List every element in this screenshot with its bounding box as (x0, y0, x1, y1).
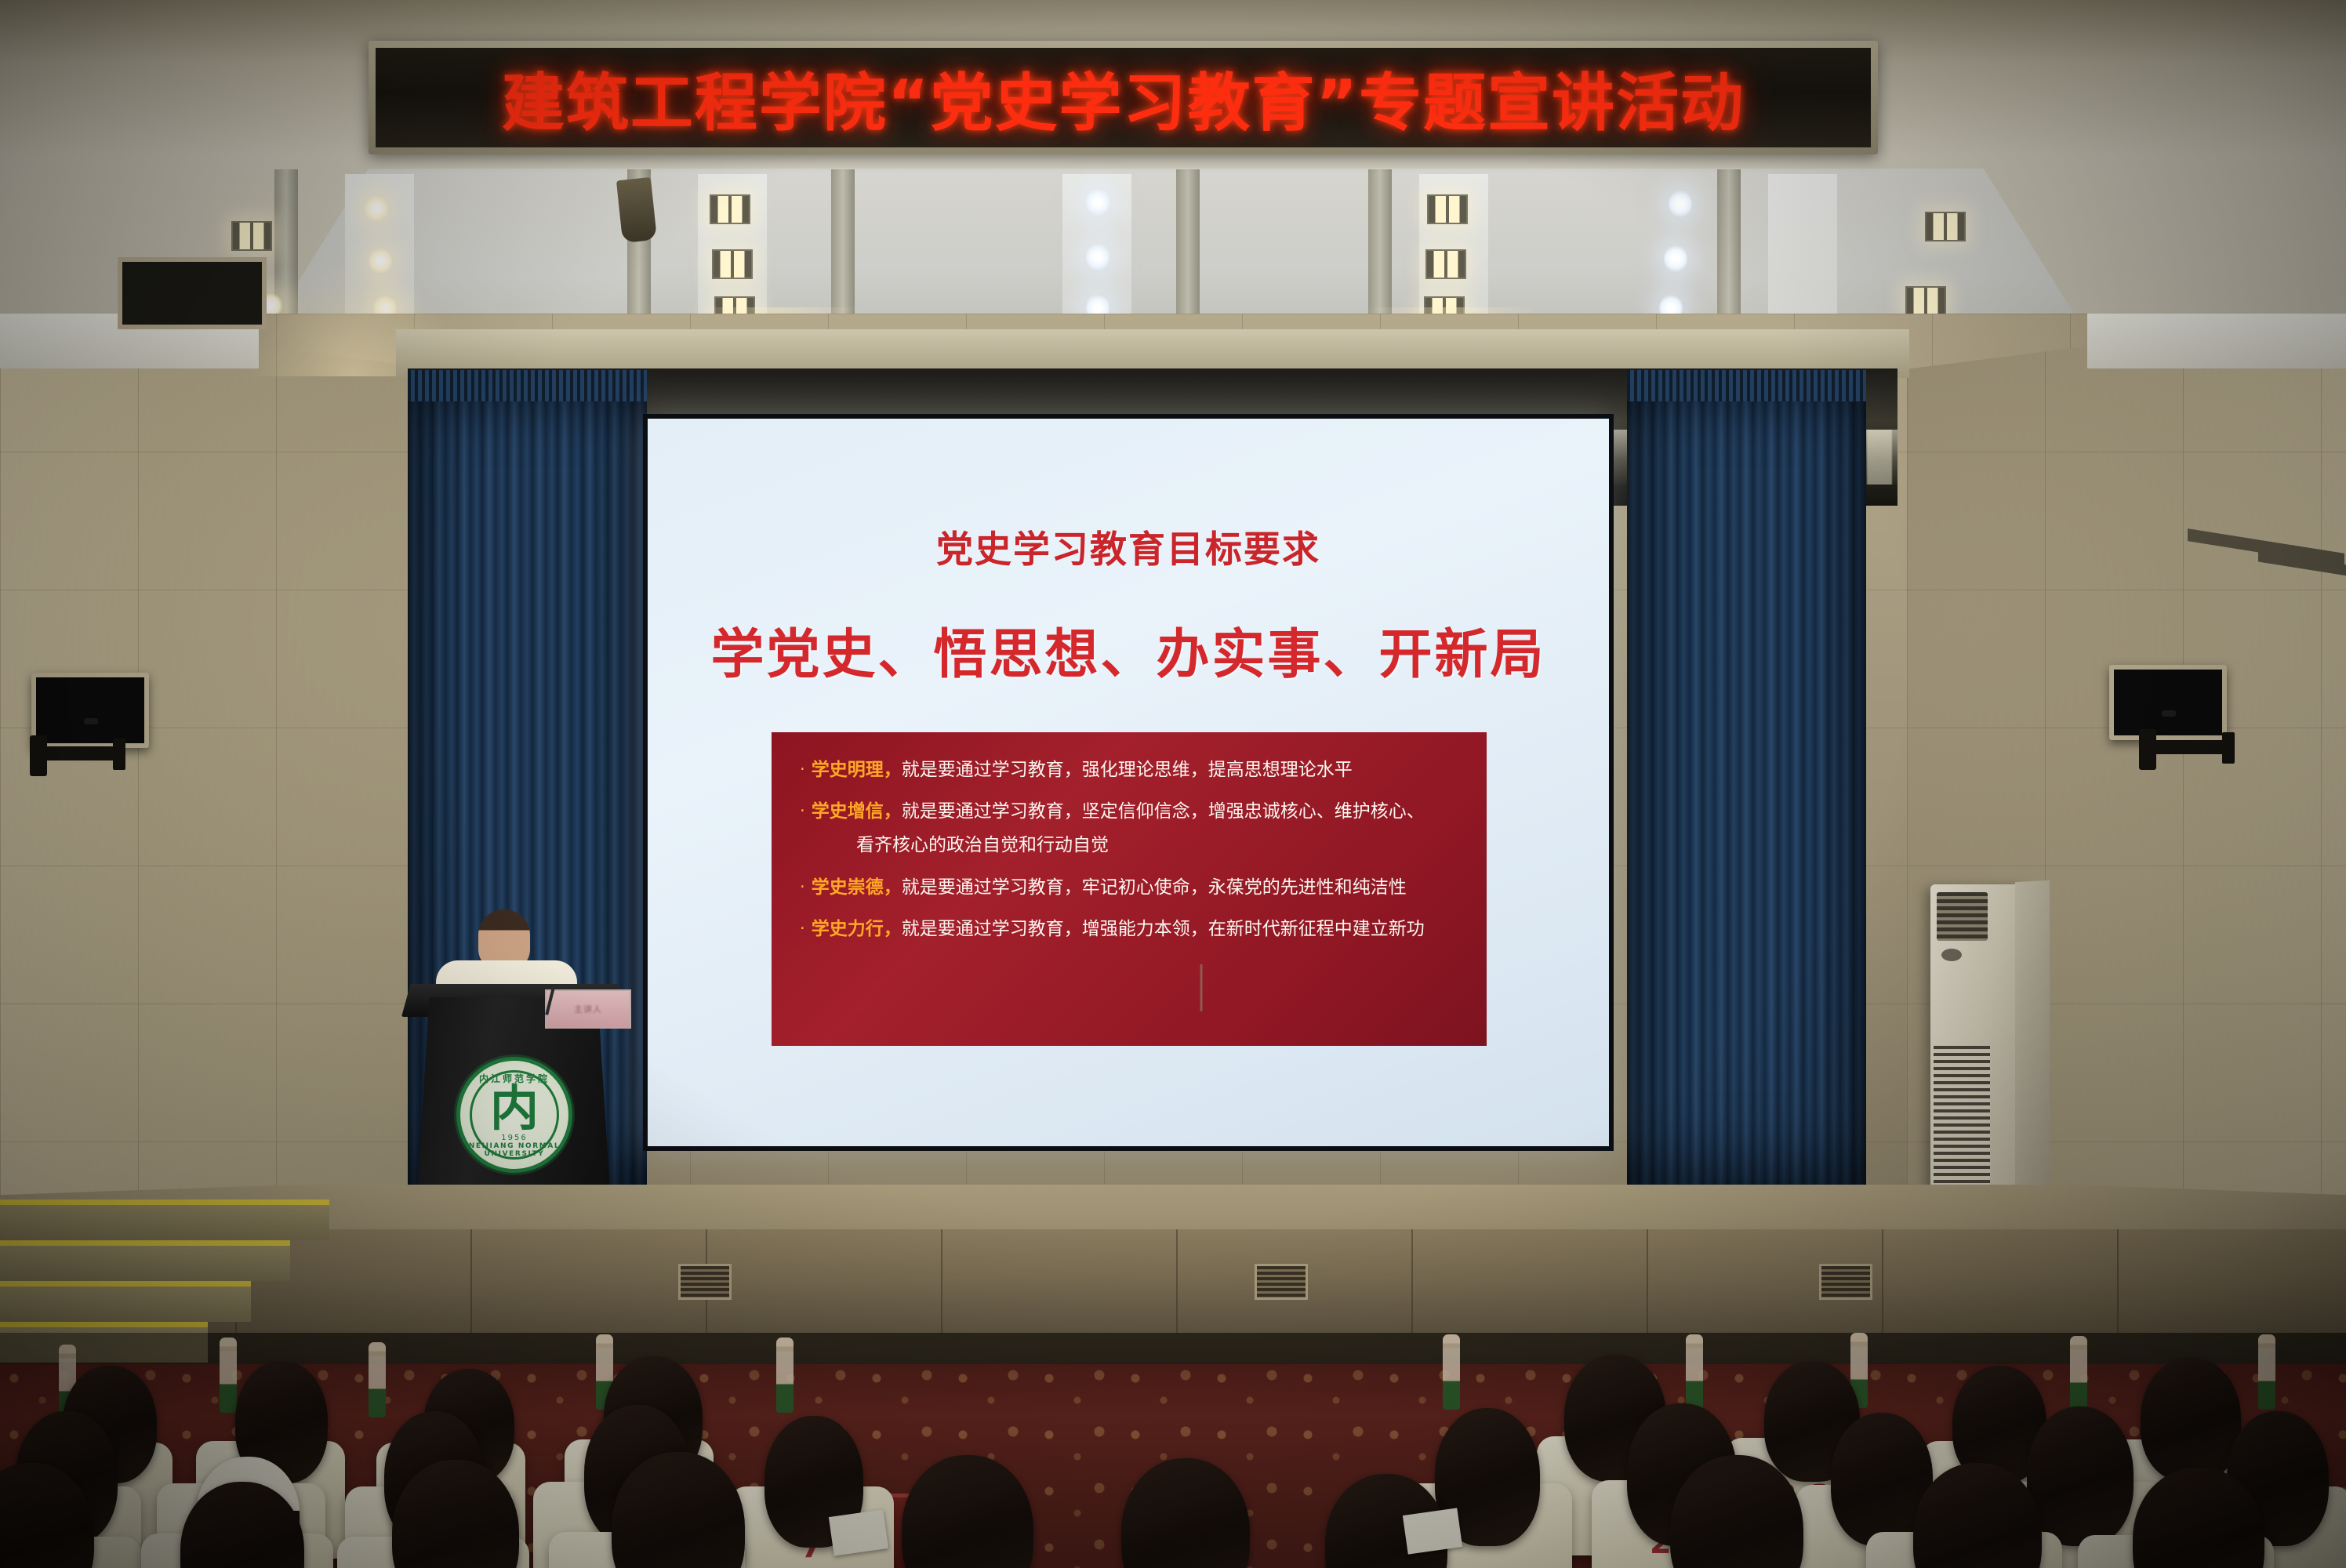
bullet-dot: · (800, 759, 805, 779)
ceiling-downlight (1669, 190, 1692, 218)
ceiling-light-strip (1768, 174, 1837, 331)
ceiling-downlight (1086, 243, 1109, 271)
water-bottle (2258, 1334, 2275, 1410)
water-bottle (220, 1338, 237, 1413)
emblem-founding-year: 1956 (460, 1134, 568, 1142)
water-bottle (776, 1338, 793, 1413)
wall-mounted-display (31, 673, 149, 748)
led-banner-text: 建筑工程学院“党史学习教育”专题宣讲活动 (502, 53, 1745, 143)
slide-title: 党史学习教育目标要求 (648, 519, 1609, 573)
ceiling-square-light (1425, 249, 1466, 279)
ceiling-square-light (1925, 212, 1966, 241)
ac-upper-grille (1937, 892, 1988, 941)
handout-paper (1403, 1508, 1462, 1554)
water-bottle (2070, 1336, 2087, 1411)
ceiling-downlight (1086, 188, 1109, 216)
ceiling-speaker (616, 177, 657, 243)
stage-step (0, 1200, 329, 1240)
stage-step (0, 1281, 251, 1322)
bullet-lead: 学史崇德， (812, 877, 902, 899)
left-wall (0, 314, 439, 1239)
slide-bullet-continuation: 看齐核心的政治自觉和行动自觉 (856, 834, 1458, 857)
bullet-body: 就是要通过学习教育，坚定信仰信念，增强忠诚核心、维护核心、 (902, 800, 1425, 823)
emblem-english-name: NEIJIANG NORMAL UNIVERSITY (460, 1142, 568, 1158)
bullet-lead: 学史增信， (812, 800, 902, 823)
stage-steps (0, 1200, 337, 1345)
water-bottle (369, 1342, 386, 1417)
ceiling-square-light (712, 249, 753, 279)
bullet-lead: 学史力行， (812, 918, 902, 941)
ceiling-square-light (1427, 194, 1468, 224)
ac-badge-icon (1941, 949, 1962, 961)
bullet-body: 就是要通过学习教育，增强能力本领，在新时代新征程中建立新功 (902, 918, 1425, 941)
projection-booth-window (118, 257, 267, 329)
slide-subtitle: 学党史、悟思想、办实事、开新局 (648, 611, 1609, 688)
bullet-dot: · (800, 918, 805, 938)
bullet-body: 就是要通过学习教育，强化理论思维，提高思想理论水平 (902, 759, 1353, 782)
slide-bullet: · 学史力行， 就是要通过学习教育，增强能力本领，在新时代新征程中建立新功 (800, 918, 1458, 941)
slide-bullet: · 学史崇德， 就是要通过学习教育，牢记初心使命，永葆党的先进性和纯洁性 (800, 877, 1458, 899)
ceiling-square-light (1905, 286, 1946, 316)
led-banner-screen: 建筑工程学院“党史学习教育”专题宣讲活动 (376, 48, 1871, 147)
wall-panel-grid (0, 314, 439, 1239)
stage-curtain-right (1627, 370, 1866, 1213)
stage-vent-grille (1255, 1264, 1308, 1300)
wall-mounted-display (2109, 665, 2227, 740)
slide-content-box: · 学史明理， 就是要通过学习教育，强化理论思维，提高思想理论水平 · 学史增信… (772, 732, 1487, 1046)
bullet-body: 看齐核心的政治自觉和行动自觉 (856, 834, 1109, 857)
stage-vent-grille (678, 1264, 732, 1300)
stage-step (0, 1322, 208, 1363)
podium-nameplate-text: 主讲人 (547, 991, 630, 1027)
stage-step (0, 1240, 290, 1281)
bullet-dot: · (800, 800, 805, 821)
projection-screen: 党史学习教育目标要求 学党史、悟思想、办实事、开新局 · 学史明理， 就是要通过… (648, 419, 1609, 1146)
stage-front-face (0, 1229, 2346, 1341)
auditorium-photo: 建筑工程学院“党史学习教育”专题宣讲活动 党史学习教育目标要求 学党史、悟思想、… (0, 0, 2346, 1568)
ceiling-downlight (1664, 245, 1687, 273)
ceiling-downlight (365, 194, 388, 223)
ac-lower-grille (1934, 1046, 1990, 1185)
podium-nameplate: 主讲人 (545, 989, 631, 1029)
bullet-lead: 学史明理， (812, 759, 902, 782)
upper-wall-band (2087, 314, 2346, 368)
bullet-dot: · (800, 877, 805, 897)
stage-vent-grille (1819, 1264, 1872, 1300)
water-bottle (1686, 1334, 1703, 1410)
audience-person (2027, 1406, 2134, 1546)
ac-side-panel (2015, 880, 2050, 1205)
floor-standing-air-conditioner (1930, 884, 2028, 1202)
slide-bullet: · 学史明理， 就是要通过学习教育，强化理论思维，提高思想理论水平 (800, 759, 1458, 782)
led-banner: 建筑工程学院“党史学习教育”专题宣讲活动 (369, 41, 1878, 154)
bullet-body: 就是要通过学习教育，牢记初心使命，永葆党的先进性和纯洁性 (902, 877, 1407, 899)
ceiling-square-light (231, 221, 272, 251)
audience-person (2141, 1358, 2241, 1482)
projection-screen-bezel: 党史学习教育目标要求 学党史、悟思想、办实事、开新局 · 学史明理， 就是要通过… (643, 414, 1614, 1151)
curtain-header (408, 370, 647, 401)
university-emblem-icon: 内江师范学院 内 1956 NEIJIANG NORMAL UNIVERSITY (456, 1057, 572, 1173)
display-mount-arm (41, 746, 125, 760)
emblem-glyph: 内 (490, 1084, 539, 1133)
stage-panel-joints (0, 1229, 2346, 1341)
display-mount-arm (2150, 740, 2235, 754)
curtain-header (1627, 370, 1866, 401)
handout-paper (829, 1509, 888, 1555)
slide-bullet: · 学史增信， 就是要通过学习教育，坚定信仰信念，增强忠诚核心、维护核心、 (800, 800, 1458, 823)
presenter-shirt-placket (1200, 964, 1203, 1011)
ceiling-square-light (710, 194, 750, 224)
water-bottle (1443, 1334, 1460, 1410)
